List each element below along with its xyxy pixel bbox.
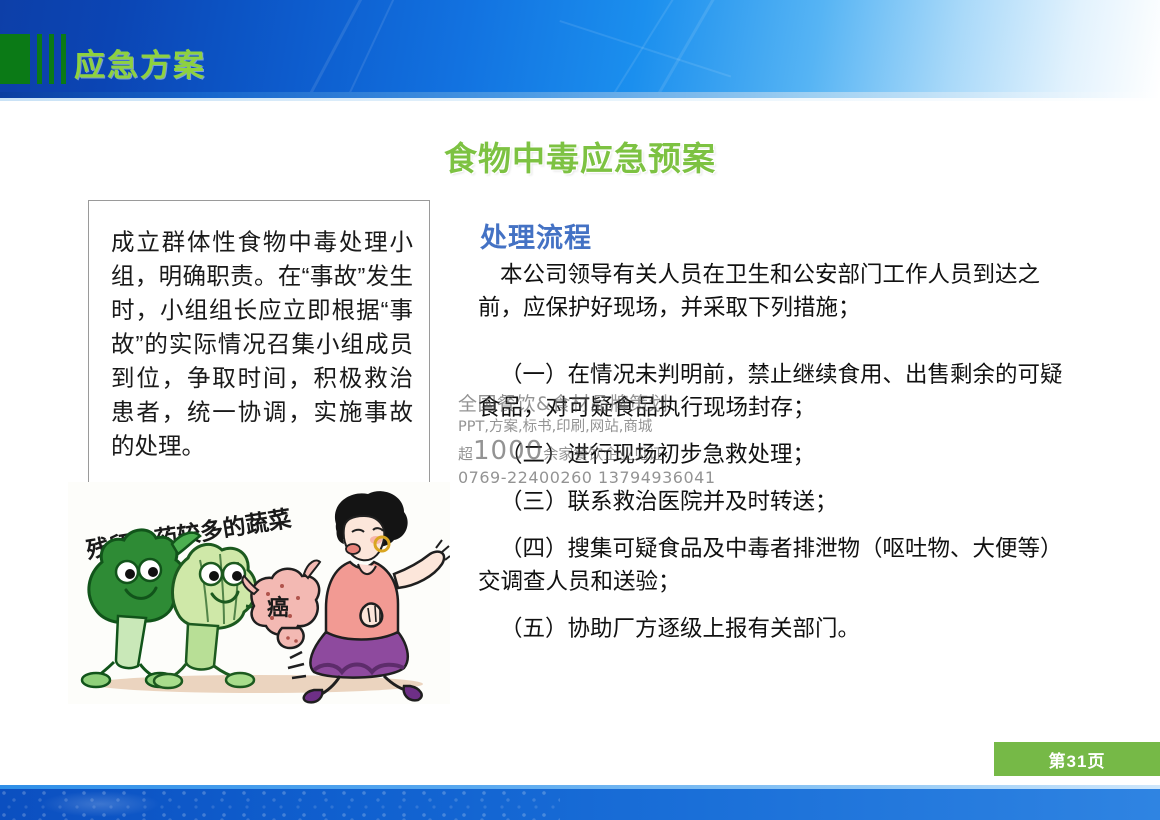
mark-bar-icon [61,34,66,84]
page-number-badge: 第31页 [994,742,1160,776]
list-item: （一）在情况未判明前，禁止继续食用、出售剩余的可疑食品，对可疑食品执行现场封存； [478,358,1078,424]
illustration-svg: 残留农药较多的蔬菜 [68,482,450,704]
list-item: （四）搜集可疑食品及中毒者排泄物（呕吐物、大便等）交调查人员和送验； [478,532,1078,598]
mark-gap [54,34,61,84]
list-item: （五）协助厂方逐级上报有关部门。 [478,612,1078,645]
procedure-list: （一）在情况未判明前，禁止继续食用、出售剩余的可疑食品，对可疑食品执行现场封存；… [478,358,1078,645]
vegetable-cartoon-illustration: 残留农药较多的蔬菜 [68,482,450,704]
header-mark-icon [0,34,66,84]
header-streak-icon [559,20,731,78]
mark-gap [30,34,37,84]
header-streak-icon [286,0,383,92]
intro-paragraph: 本公司领导有关人员在卫生和公安部门工作人员到达之前，应保护好现场，并采取下列措施… [478,258,1078,324]
header-title: 应急方案 [74,40,206,85]
mark-gap [42,34,49,84]
watermark-line-3-prefix: 超 [458,445,473,463]
mark-block-icon [0,34,30,84]
slide-canvas: 应急方案 食物中毒应急预案 成立群体性食物中毒处理小组，明确职责。在“事故”发生… [0,0,1160,820]
slide-title: 食物中毒应急预案 [0,132,1160,180]
list-item: （二）进行现场初步急救处理； [478,438,1078,471]
left-text-box: 成立群体性食物中毒处理小组，明确职责。在“事故”发生时，小组组长应立即根据“事故… [88,200,430,486]
left-box-paragraph: 成立群体性食物中毒处理小组，明确职责。在“事故”发生时，小组组长应立即根据“事故… [111,225,413,463]
list-item: （三）联系救治医院并及时转送； [478,485,1078,518]
slide-footer [0,785,1160,820]
tumor-label: 癌 [267,595,289,621]
footer-glow [40,791,160,817]
header-underline-secondary [0,98,1160,101]
intro-paragraph-block: 本公司领导有关人员在卫生和公安部门工作人员到达之前，应保护好现场，并采取下列措施… [478,258,1078,324]
section-heading: 处理流程 [480,216,592,255]
